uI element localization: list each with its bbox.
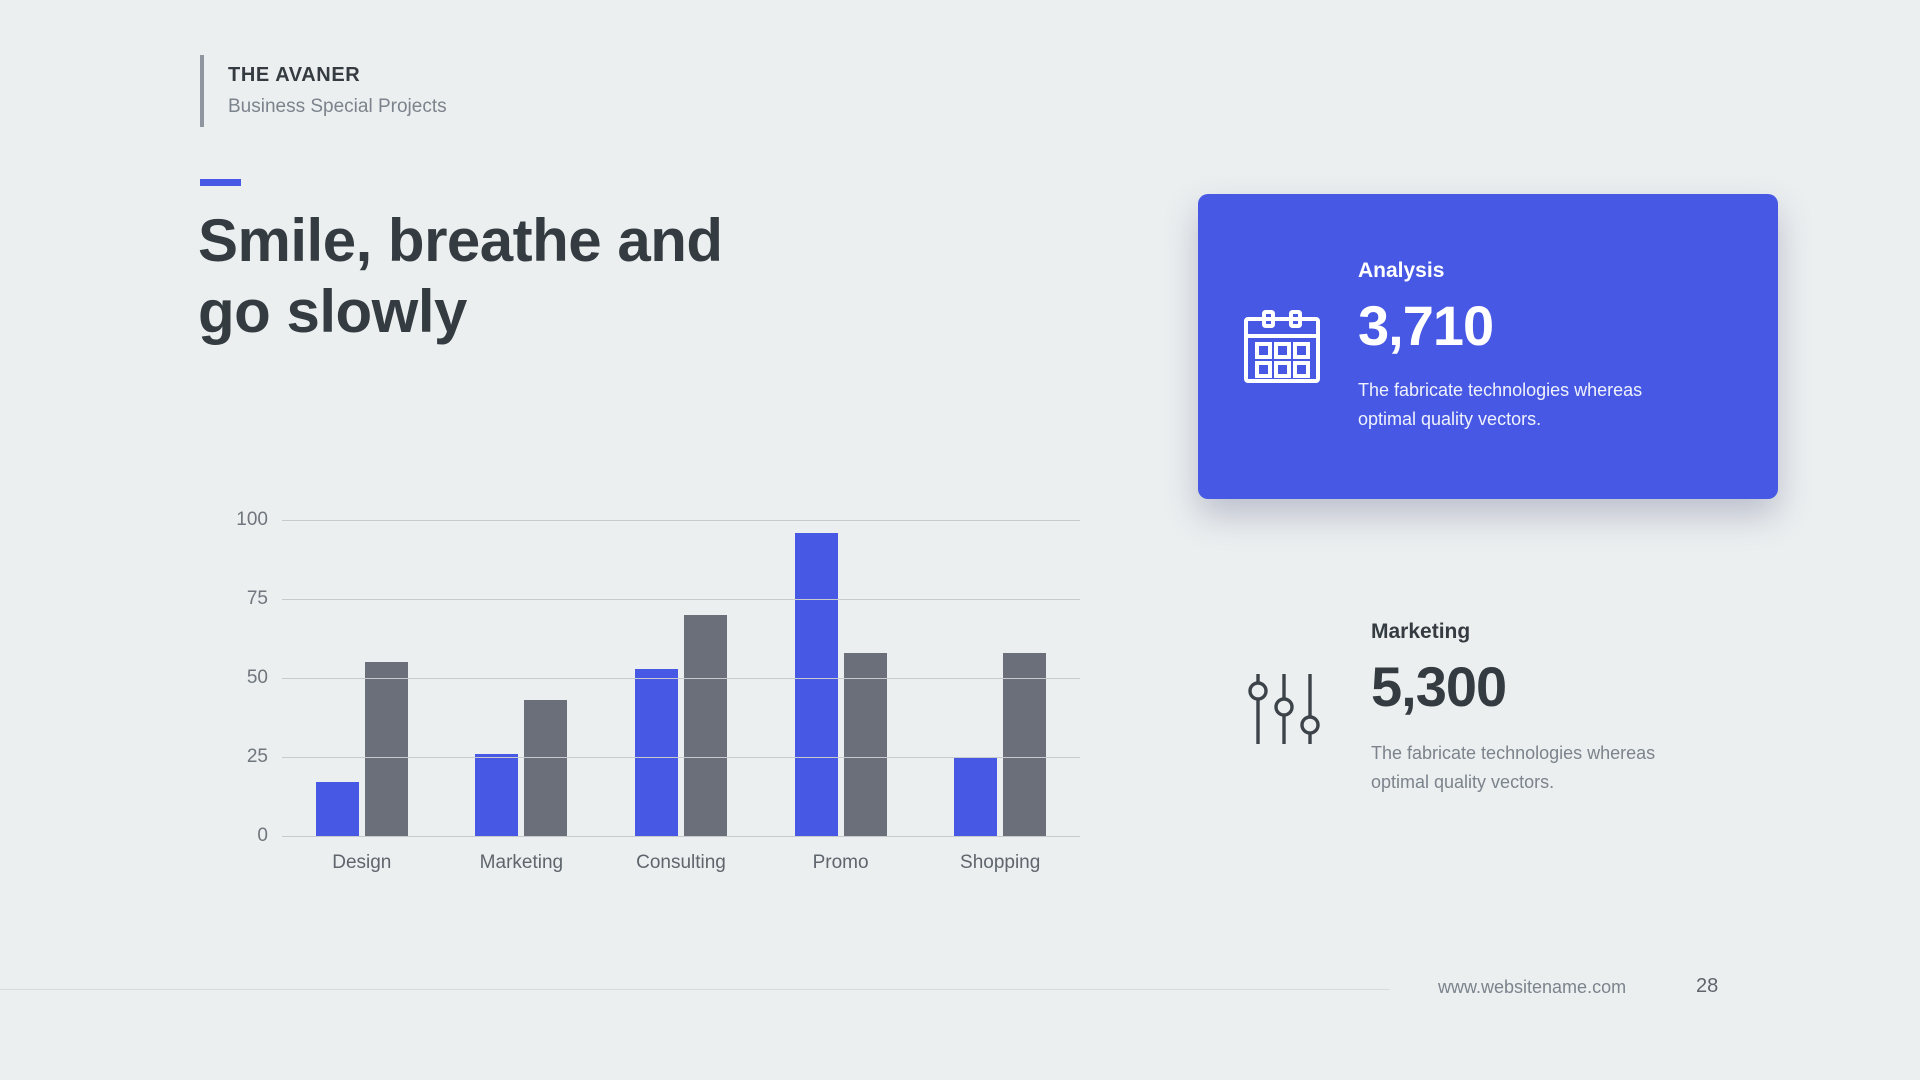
chart-bar[interactable] (475, 754, 518, 836)
page-title: Smile, breathe and go slowly (198, 206, 838, 348)
chart-bar[interactable] (954, 757, 997, 836)
analysis-card-value: 3,710 (1358, 293, 1688, 358)
chart-x-tick-label: Marketing (480, 852, 563, 874)
chart-bar[interactable] (1003, 653, 1046, 836)
chart-bar[interactable] (316, 782, 359, 836)
chart-bar[interactable] (684, 615, 727, 836)
chart-bar[interactable] (795, 533, 838, 836)
chart-bar[interactable] (635, 669, 678, 836)
chart-plot-area: DesignMarketingConsultingPromoShopping 0… (282, 520, 1080, 836)
chart-bar[interactable] (365, 662, 408, 836)
chart-gridline (282, 520, 1080, 521)
brand-header: THE AVANER Business Special Projects (200, 55, 447, 127)
analysis-card[interactable]: Analysis 3,710 The fabricate technologie… (1198, 194, 1778, 499)
analysis-card-title: Analysis (1358, 259, 1688, 283)
brand-subtitle: Business Special Projects (228, 96, 447, 118)
chart-gridline (282, 836, 1080, 837)
chart-y-tick-label: 0 (257, 825, 268, 847)
chart-bar[interactable] (524, 700, 567, 836)
analysis-card-description: The fabricate technologies whereas optim… (1358, 376, 1688, 434)
chart-x-tick-label: Consulting (636, 852, 726, 874)
page-title-line-2: go slowly (198, 277, 838, 348)
slide: THE AVANER Business Special Projects Smi… (0, 0, 1920, 1080)
calendar-icon (1240, 305, 1324, 389)
chart-bar[interactable] (844, 653, 887, 836)
brand-name: THE AVANER (228, 64, 447, 87)
footer-page-number: 28 (1696, 975, 1718, 998)
brand-rule (200, 55, 204, 127)
chart-gridline (282, 678, 1080, 679)
page-title-line-1: Smile, breathe and (198, 206, 838, 277)
marketing-stat-description: The fabricate technologies whereas optim… (1371, 739, 1701, 797)
footer-url[interactable]: www.websitename.com (1438, 977, 1626, 998)
chart-y-tick-label: 75 (247, 588, 268, 610)
chart-x-tick-label: Design (332, 852, 391, 874)
bar-chart: DesignMarketingConsultingPromoShopping 0… (200, 520, 1080, 880)
chart-y-tick-label: 50 (247, 667, 268, 689)
marketing-stat-title: Marketing (1371, 620, 1701, 644)
marketing-stat-value: 5,300 (1371, 654, 1701, 719)
chart-y-tick-label: 25 (247, 746, 268, 768)
marketing-stat-body: Marketing 5,300 The fabricate technologi… (1371, 620, 1701, 797)
brand-text: THE AVANER Business Special Projects (228, 55, 447, 127)
analysis-card-body: Analysis 3,710 The fabricate technologie… (1358, 259, 1688, 434)
chart-x-tick-label: Promo (813, 852, 869, 874)
footer-divider (0, 989, 1390, 990)
sliders-icon (1245, 669, 1323, 749)
chart-y-tick-label: 100 (236, 509, 268, 531)
chart-gridline (282, 599, 1080, 600)
chart-x-tick-label: Shopping (960, 852, 1040, 874)
chart-gridline (282, 757, 1080, 758)
marketing-stat: Marketing 5,300 The fabricate technologi… (1245, 620, 1805, 797)
accent-bar (200, 179, 241, 186)
